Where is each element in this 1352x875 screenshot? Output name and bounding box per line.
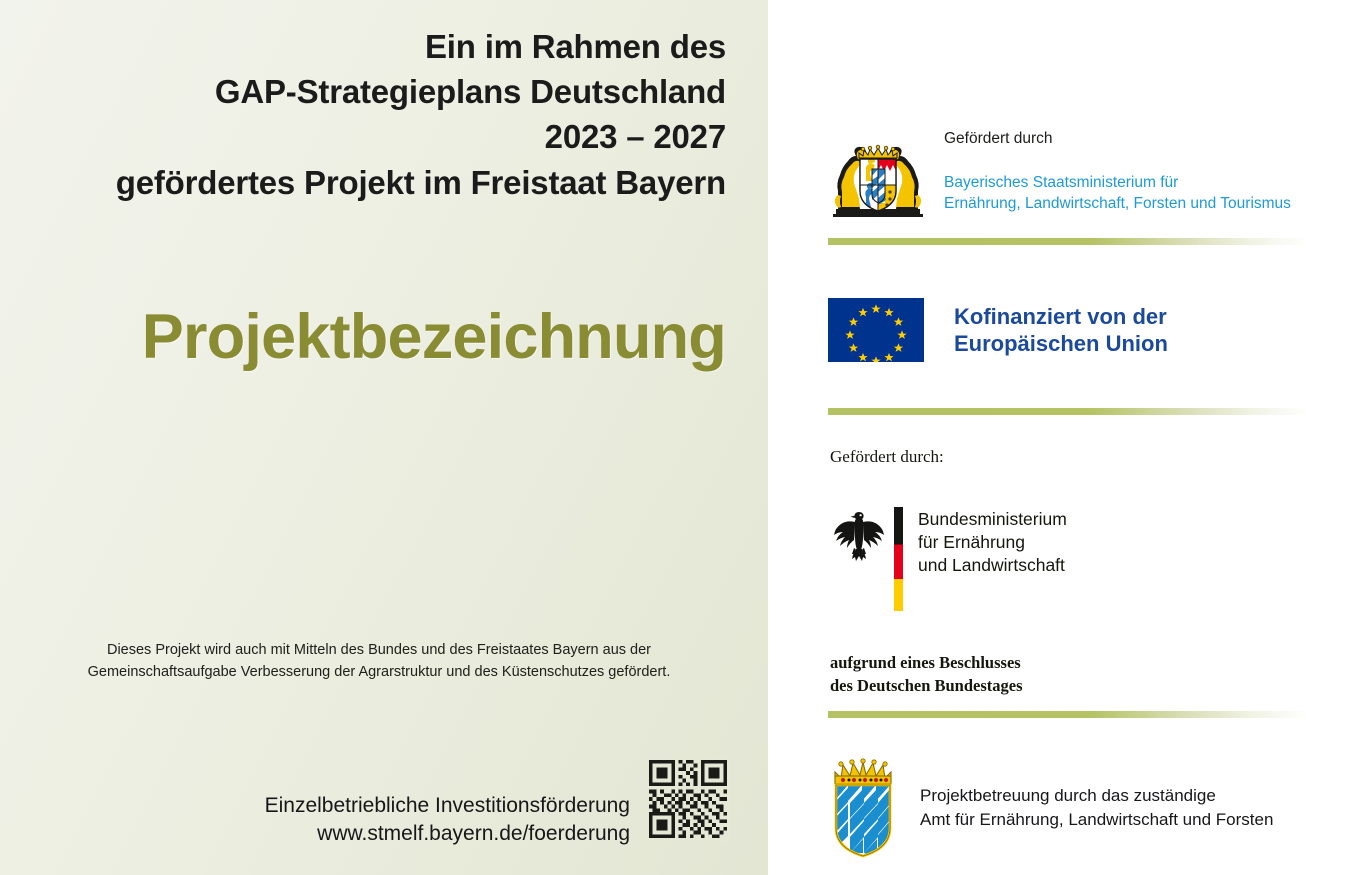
programme-url[interactable]: www.stmelf.bayern.de/foerderung: [0, 820, 630, 848]
aelf-text-line-1: Projektbetreuung durch das zuständige: [920, 784, 1273, 808]
headline-line-2: GAP-Strategieplans Deutschland: [0, 69, 726, 114]
eu-text-line-2: Europäischen Union: [954, 330, 1168, 358]
bmel-kicker: Gefördert durch:: [830, 447, 1350, 467]
bavarian-state-coat-of-arms-icon: [828, 139, 928, 219]
headline: Ein im Rahmen des GAP-Strategieplans Deu…: [0, 24, 726, 205]
funding-block-federal-ministry: Gefördert durch:: [830, 447, 1350, 697]
programme-name: Einzelbetriebliche Investitionsförderung: [0, 792, 630, 820]
bmel-name-line-2: für Ernährung: [918, 531, 1067, 554]
bavarian-lozenge-shield-with-crown-icon: [828, 756, 898, 860]
programme-footer: Einzelbetriebliche Investitionsförderung…: [0, 792, 630, 849]
funding-block-project-supervision: Projektbetreuung durch das zuständige Am…: [828, 756, 1348, 860]
funding-block-bavarian-ministry: Gefördert durch Bayerisches Staatsminist…: [828, 128, 1348, 219]
bmel-logo: Bundesministerium für Ernährung und Land…: [830, 507, 1350, 611]
divider-2: [828, 408, 1308, 415]
eu-cofinancing-text: Kofinanziert von der Europäischen Union: [954, 303, 1168, 358]
bmel-name-line-1: Bundesministerium: [918, 508, 1067, 531]
bundestag-decision-line-1: aufgrund eines Beschlusses: [830, 651, 1350, 674]
left-panel: Ein im Rahmen des GAP-Strategieplans Deu…: [0, 0, 768, 875]
headline-line-4: gefördertes Projekt im Freistaat Bayern: [0, 160, 726, 205]
stmelf-kicker: Gefördert durch: [944, 130, 1291, 149]
eu-text-line-1: Kofinanziert von der: [954, 303, 1168, 331]
bundestag-decision-note: aufgrund eines Beschlusses des Deutschen…: [830, 651, 1350, 697]
european-union-flag-icon: [828, 298, 924, 362]
cooperation-note-line-2: Gemeinschaftsaufgabe Verbesserung der Ag…: [28, 661, 730, 683]
project-title: Projektbezeichnung: [0, 306, 726, 369]
cooperation-note: Dieses Projekt wird auch mit Mitteln des…: [28, 639, 730, 684]
headline-line-3: 2023 – 2027: [0, 114, 726, 159]
bmel-ministry-name: Bundesministerium für Ernährung und Land…: [918, 507, 1067, 577]
qr-code-icon[interactable]: [646, 757, 730, 841]
stmelf-name-line-1: Bayerisches Staatsministerium für: [944, 172, 1291, 193]
right-panel: Gefördert durch Bayerisches Staatsminist…: [768, 0, 1352, 875]
aelf-text-line-2: Amt für Ernährung, Landwirtschaft und Fo…: [920, 808, 1273, 832]
funding-block-european-union: Kofinanziert von der Europäischen Union: [828, 298, 1348, 362]
bmel-name-line-3: und Landwirtschaft: [918, 554, 1067, 577]
german-flag-bar-icon: [894, 507, 903, 611]
stmelf-name-line-2: Ernährung, Landwirtschaft, Forsten und T…: [944, 193, 1291, 214]
project-sign-board: Ein im Rahmen des GAP-Strategieplans Deu…: [0, 0, 1352, 875]
divider-3: [828, 711, 1308, 718]
divider-1: [828, 238, 1308, 245]
cooperation-note-line-1: Dieses Projekt wird auch mit Mitteln des…: [28, 639, 730, 661]
bundestag-decision-line-2: des Deutschen Bundestages: [830, 674, 1350, 697]
headline-line-1: Ein im Rahmen des: [0, 24, 726, 69]
stmelf-ministry-name: Bayerisches Staatsministerium für Ernähr…: [944, 172, 1291, 215]
project-supervision-text: Projektbetreuung durch das zuständige Am…: [920, 784, 1273, 832]
bundesadler-federal-eagle-icon: [830, 507, 888, 565]
